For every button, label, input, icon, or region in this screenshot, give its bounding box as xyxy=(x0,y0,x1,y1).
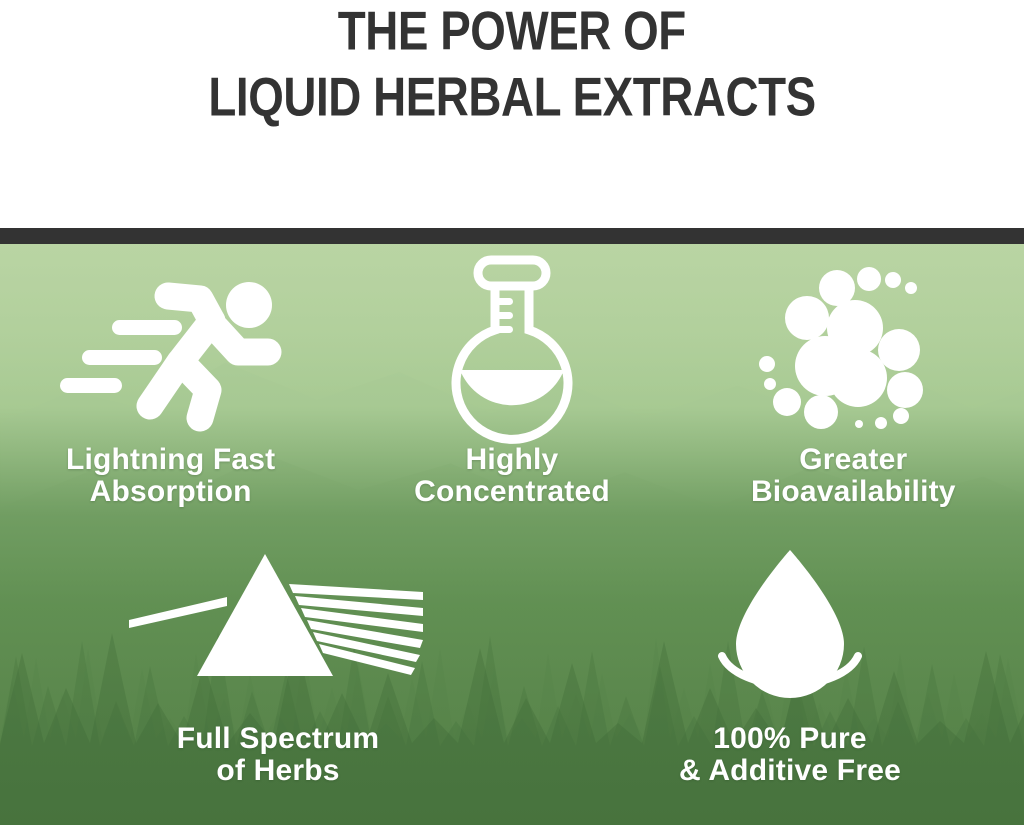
feature-label-line-1: 100% Pure xyxy=(679,723,901,755)
features-row-top: Lightning Fast Absorption xyxy=(0,244,1024,534)
feature-100-percent-pure-additive-free: 100% Pure & Additive Free xyxy=(556,534,1024,825)
features-row-bottom: Full Spectrum of Herbs xyxy=(0,534,1024,825)
running-man-icon xyxy=(56,256,286,436)
feature-label-line-2: of Herbs xyxy=(177,755,380,787)
feature-label-line-2: & Additive Free xyxy=(679,755,901,787)
forest-photo-panel: Lightning Fast Absorption xyxy=(0,244,1024,825)
feature-label-line-1: Highly xyxy=(414,444,610,476)
water-droplet-ripple-icon xyxy=(630,534,950,709)
feature-label-line-2: Bioavailability xyxy=(751,476,956,508)
divider-bar xyxy=(0,228,1024,244)
feature-label-full-spectrum-of-herbs: Full Spectrum of Herbs xyxy=(177,723,380,787)
bubbles-icon xyxy=(738,256,968,436)
page-title-line-2: LIQUID HERBAL EXTRACTS xyxy=(208,70,815,125)
feature-label-line-2: Concentrated xyxy=(414,476,610,508)
feature-label-lightning-fast-absorption: Lightning Fast Absorption xyxy=(66,444,275,508)
feature-label-100-percent-pure-additive-free: 100% Pure & Additive Free xyxy=(679,723,901,787)
page-title-line-1: THE POWER OF xyxy=(338,4,686,59)
feature-label-line-2: Absorption xyxy=(66,476,275,508)
feature-label-line-1: Lightning Fast xyxy=(66,444,275,476)
feature-label-greater-bioavailability: Greater Bioavailability xyxy=(751,444,956,508)
feature-greater-bioavailability: Greater Bioavailability xyxy=(683,244,1024,534)
prism-spectrum-icon xyxy=(118,534,438,709)
flask-icon xyxy=(397,256,627,436)
feature-full-spectrum-of-herbs: Full Spectrum of Herbs xyxy=(0,534,556,825)
header: THE POWER OF LIQUID HERBAL EXTRACTS xyxy=(0,0,1024,228)
features-content: Lightning Fast Absorption xyxy=(0,244,1024,825)
feature-lightning-fast-absorption: Lightning Fast Absorption xyxy=(0,244,341,534)
feature-label-highly-concentrated: Highly Concentrated xyxy=(414,444,610,508)
feature-label-line-1: Full Spectrum xyxy=(177,723,380,755)
feature-label-line-1: Greater xyxy=(751,444,956,476)
feature-highly-concentrated: Highly Concentrated xyxy=(341,244,682,534)
